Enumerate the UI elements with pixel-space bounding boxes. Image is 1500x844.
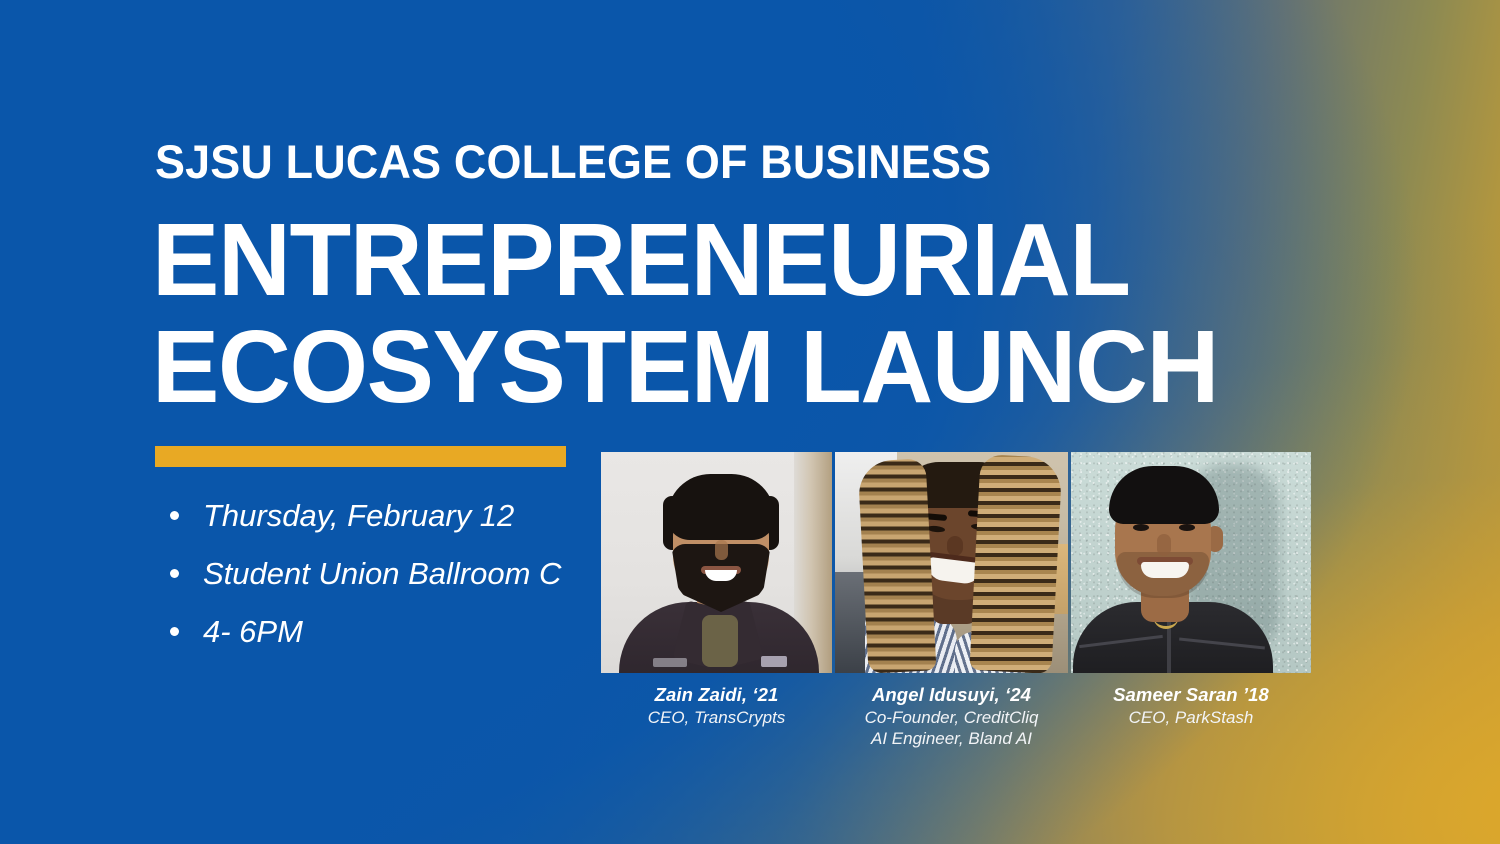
speaker-name: Sameer Saran ’18 <box>1113 684 1269 707</box>
event-details-list: Thursday, February 12 Student Union Ball… <box>160 500 561 674</box>
speaker-caption: Sameer Saran ’18 CEO, ParkStash <box>1113 684 1269 728</box>
organization-eyebrow: SJSU LUCAS COLLEGE OF BUSINESS <box>155 138 991 185</box>
speaker-caption: Zain Zaidi, ‘21 CEO, TransCrypts <box>648 684 786 728</box>
bullet-icon <box>170 511 179 520</box>
poster-content: SJSU LUCAS COLLEGE OF BUSINESS ENTREPREN… <box>0 0 1500 844</box>
list-item: Student Union Ballroom C <box>160 558 561 589</box>
speaker-photo-strip: Zain Zaidi, ‘21 CEO, TransCrypts <box>601 452 1311 673</box>
event-date: Thursday, February 12 <box>203 498 514 533</box>
avatar <box>601 452 832 673</box>
speaker-role-2: AI Engineer, Bland AI <box>865 728 1039 749</box>
gold-accent-bar <box>155 446 566 467</box>
event-location: Student Union Ballroom C <box>203 556 561 591</box>
speaker-role-1: CEO, TransCrypts <box>648 707 786 728</box>
speaker-role-1: Co-Founder, CreditCliq <box>865 707 1039 728</box>
event-poster: SJSU LUCAS COLLEGE OF BUSINESS ENTREPREN… <box>0 0 1500 844</box>
speaker-card: Zain Zaidi, ‘21 CEO, TransCrypts <box>601 452 832 673</box>
page-title: ENTREPRENEURIAL ECOSYSTEM LAUNCH <box>152 206 1218 420</box>
headline-line-1: ENTREPRENEURIAL <box>152 206 1218 313</box>
bullet-icon <box>170 569 179 578</box>
speaker-name: Angel Idusuyi, ‘24 <box>865 684 1039 707</box>
speaker-caption: Angel Idusuyi, ‘24 Co-Founder, CreditCli… <box>865 684 1039 749</box>
headline-line-2: ECOSYSTEM LAUNCH <box>152 313 1218 420</box>
event-time: 4- 6PM <box>203 614 303 649</box>
speaker-card: Sameer Saran ’18 CEO, ParkStash <box>1071 452 1311 673</box>
avatar <box>1071 452 1311 673</box>
speaker-name: Zain Zaidi, ‘21 <box>648 684 786 707</box>
speaker-role-1: CEO, ParkStash <box>1113 707 1269 728</box>
avatar <box>835 452 1068 673</box>
list-item: 4- 6PM <box>160 616 561 647</box>
speaker-card: Angel Idusuyi, ‘24 Co-Founder, CreditCli… <box>835 452 1068 673</box>
bullet-icon <box>170 627 179 636</box>
list-item: Thursday, February 12 <box>160 500 561 531</box>
